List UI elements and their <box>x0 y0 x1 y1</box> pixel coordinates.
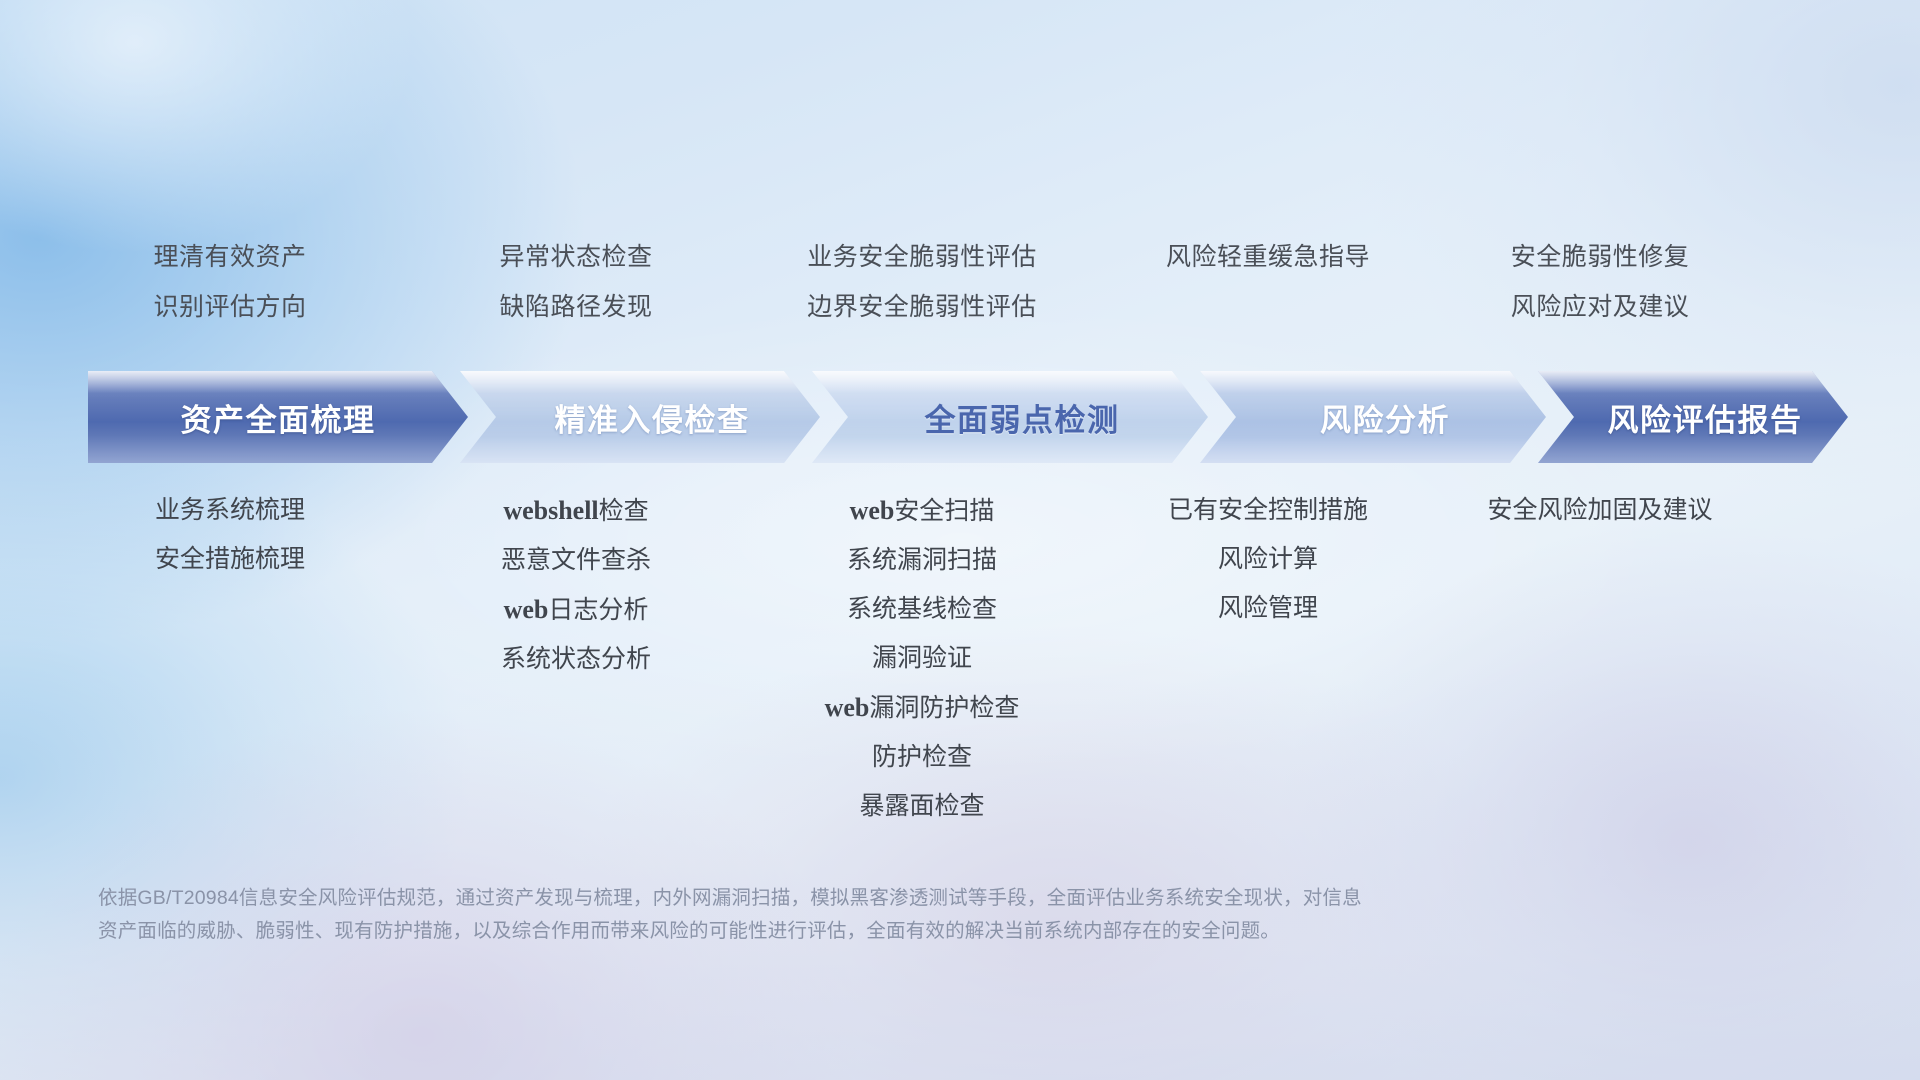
stage-detail-lists: 业务系统梳理安全措施梳理webshell检查恶意文件查杀web日志分析系统状态分… <box>0 486 1920 816</box>
detail-item-zh: 漏洞验证 <box>872 644 972 672</box>
top-label-1-line-1: 理清有效资产 <box>57 245 403 270</box>
detail-list-item: 系统状态分析 <box>376 635 776 684</box>
detail-item-en: webshell <box>503 496 598 525</box>
detail-item-zh: 检查 <box>599 497 649 525</box>
detail-list-2: webshell检查恶意文件查杀web日志分析系统状态分析 <box>376 486 776 684</box>
detail-list-item: web漏洞防护检查 <box>722 683 1122 733</box>
detail-item-zh: 安全风险加固及建议 <box>1487 496 1712 524</box>
top-label-5-line-2: 风险应对及建议 <box>1427 295 1773 320</box>
top-label-1-line-2: 识别评估方向 <box>57 295 403 320</box>
detail-list-item: 防护检查 <box>722 733 1122 782</box>
detail-item-zh: 系统漏洞扫描 <box>847 546 997 574</box>
stage-chevron-4[interactable]: 风险分析 <box>1200 371 1546 463</box>
detail-list-item: 业务系统梳理 <box>30 486 430 535</box>
detail-list-item: web安全扫描 <box>722 486 1122 536</box>
detail-list-item: 安全措施梳理 <box>30 535 430 584</box>
stage-chevron-1[interactable]: 资产全面梳理 <box>88 371 468 463</box>
stage-chevron-label: 资产全面梳理 <box>181 395 376 440</box>
detail-item-zh: 已有安全控制措施 <box>1168 496 1368 524</box>
stage-chevron-label: 风险评估报告 <box>1584 395 1803 440</box>
top-label-5-line-1: 安全脆弱性修复 <box>1427 245 1773 270</box>
detail-list-item: 恶意文件查杀 <box>376 536 776 585</box>
detail-list-item: 系统漏洞扫描 <box>722 536 1122 585</box>
top-label-3-line-1: 业务安全脆弱性评估 <box>749 245 1095 270</box>
detail-list-item: webshell检查 <box>376 486 776 536</box>
detail-item-zh: 系统基线检查 <box>847 595 997 623</box>
detail-item-en: web <box>504 595 549 624</box>
footer-description: 依据GB/T20984信息安全风险评估规范，通过资产发现与梳理，内外网漏洞扫描，… <box>98 882 1658 948</box>
detail-item-zh: 日志分析 <box>548 596 648 624</box>
detail-list-3: web安全扫描系统漏洞扫描系统基线检查漏洞验证web漏洞防护检查防护检查暴露面检… <box>722 486 1122 831</box>
detail-list-item: 漏洞验证 <box>722 634 1122 683</box>
detail-list-item: 安全风险加固及建议 <box>1400 486 1800 535</box>
detail-item-zh: 系统状态分析 <box>501 645 651 673</box>
detail-item-en: web <box>825 693 870 722</box>
top-label-3-line-2: 边界安全脆弱性评估 <box>749 295 1095 320</box>
detail-item-zh: 暴露面检查 <box>859 792 984 820</box>
detail-item-zh: 安全措施梳理 <box>155 545 305 573</box>
top-label-2-line-1: 异常状态检查 <box>403 245 749 270</box>
process-diagram: 理清有效资产异常状态检查业务安全脆弱性评估风险轻重缓急指导安全脆弱性修复 识别评… <box>0 0 1920 1080</box>
detail-item-en: web <box>850 496 895 525</box>
detail-item-zh: 安全扫描 <box>894 497 994 525</box>
stage-chevron-band: 资产全面梳理精准入侵检查全面弱点检测风险分析风险评估报告 <box>88 371 1848 463</box>
detail-item-zh: 漏洞防护检查 <box>869 694 1019 722</box>
stage-chevron-label: 全面弱点检测 <box>901 395 1120 440</box>
detail-list-item: 暴露面检查 <box>722 782 1122 831</box>
stage-chevron-label: 风险分析 <box>1296 395 1450 440</box>
detail-list-item: 风险管理 <box>1068 584 1468 633</box>
detail-item-zh: 风险计算 <box>1218 545 1318 573</box>
stage-chevron-label: 精准入侵检查 <box>531 395 750 440</box>
stage-chevron-3[interactable]: 全面弱点检测 <box>812 371 1208 463</box>
detail-item-zh: 防护检查 <box>872 743 972 771</box>
top-label-4-line-1: 风险轻重缓急指导 <box>1095 245 1441 270</box>
detail-list-5: 安全风险加固及建议 <box>1400 486 1800 535</box>
stage-chevron-5[interactable]: 风险评估报告 <box>1538 371 1848 463</box>
footer-line-2: 资产面临的威胁、脆弱性、现有防护措施，以及综合作用而带来风险的可能性进行评估，全… <box>98 915 1658 948</box>
detail-list-item: web日志分析 <box>376 585 776 635</box>
stage-chevron-2[interactable]: 精准入侵检查 <box>460 371 820 463</box>
detail-item-zh: 风险管理 <box>1218 594 1318 622</box>
detail-list-item: 系统基线检查 <box>722 585 1122 634</box>
footer-line-1: 依据GB/T20984信息安全风险评估规范，通过资产发现与梳理，内外网漏洞扫描，… <box>98 882 1658 915</box>
top-label-2-line-2: 缺陷路径发现 <box>403 295 749 320</box>
detail-list-1: 业务系统梳理安全措施梳理 <box>30 486 430 584</box>
detail-item-zh: 业务系统梳理 <box>155 496 305 524</box>
detail-item-zh: 恶意文件查杀 <box>501 546 651 574</box>
detail-list-item: 风险计算 <box>1068 535 1468 584</box>
